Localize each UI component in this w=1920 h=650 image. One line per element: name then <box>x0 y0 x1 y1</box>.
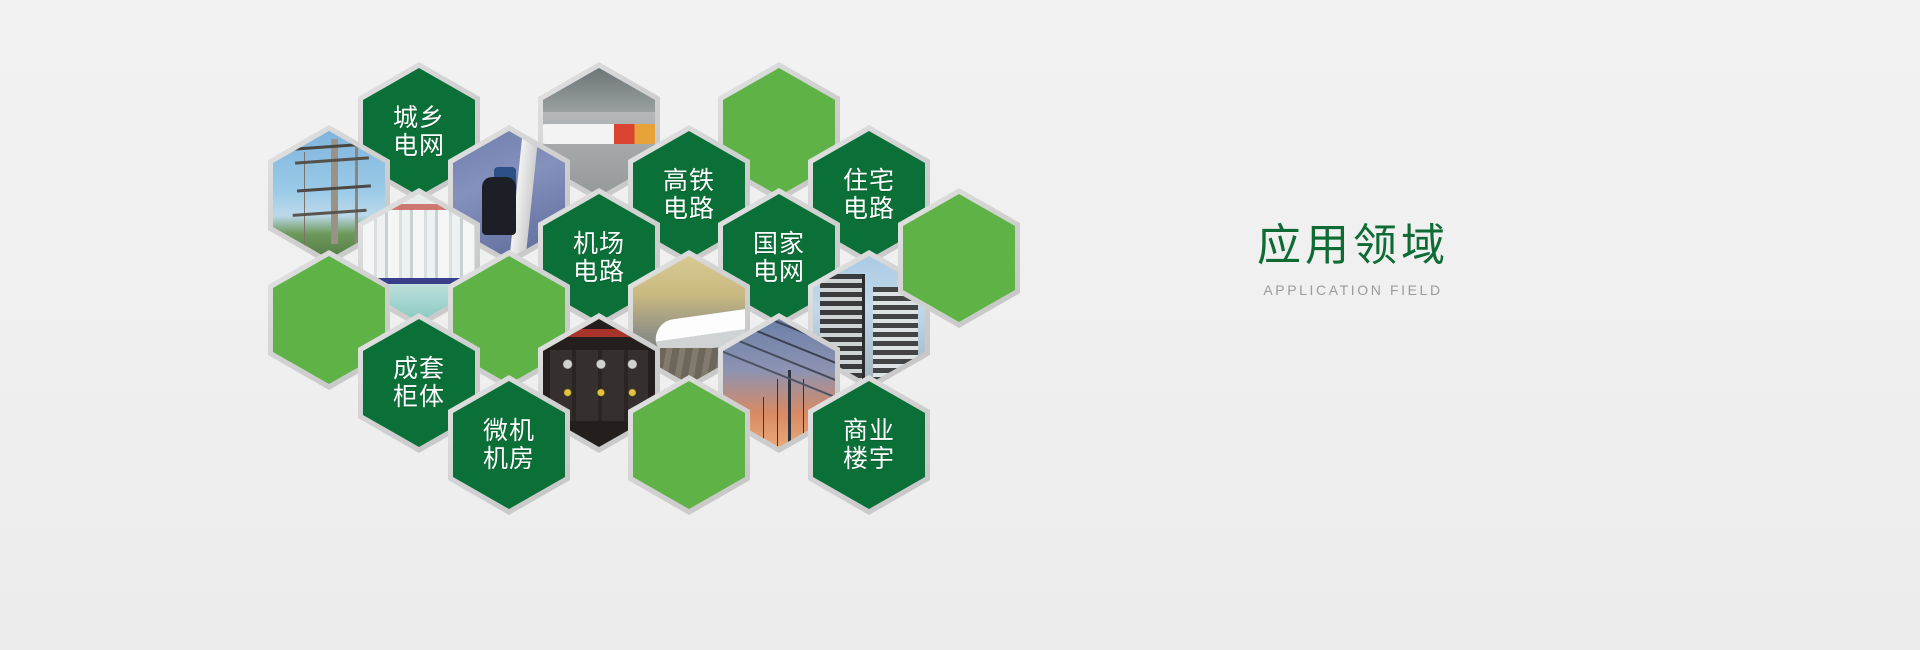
hex-face <box>903 194 1015 322</box>
hex-face <box>633 381 745 509</box>
page-subtitle: APPLICATION FIELD <box>1143 282 1563 298</box>
page-title: 应用领域 <box>1143 222 1563 270</box>
hex-label: 高铁 电路 <box>663 167 715 223</box>
hex-face: 商业 楼宇 <box>813 381 925 509</box>
hex-label: 微机 机房 <box>483 417 535 473</box>
title-block: 应用领域 APPLICATION FIELD <box>1143 222 1563 298</box>
hex-label: 商业 楼宇 <box>843 417 895 473</box>
hex-label: 住宅 电路 <box>843 167 895 223</box>
hexagon-grid: 城乡 电网高铁 电路住宅 电路机场 电路国家 电网成套 柜体微机 机房商业 楼宇 <box>0 0 1920 650</box>
hex-label: 城乡 电网 <box>393 104 445 160</box>
hex-face: 微机 机房 <box>453 381 565 509</box>
hex-label: 国家 电网 <box>753 230 805 286</box>
hex-label: 机场 电路 <box>573 230 625 286</box>
hex-label: 成套 柜体 <box>393 355 445 411</box>
application-field-banner: 城乡 电网高铁 电路住宅 电路机场 电路国家 电网成套 柜体微机 机房商业 楼宇… <box>0 0 1920 650</box>
